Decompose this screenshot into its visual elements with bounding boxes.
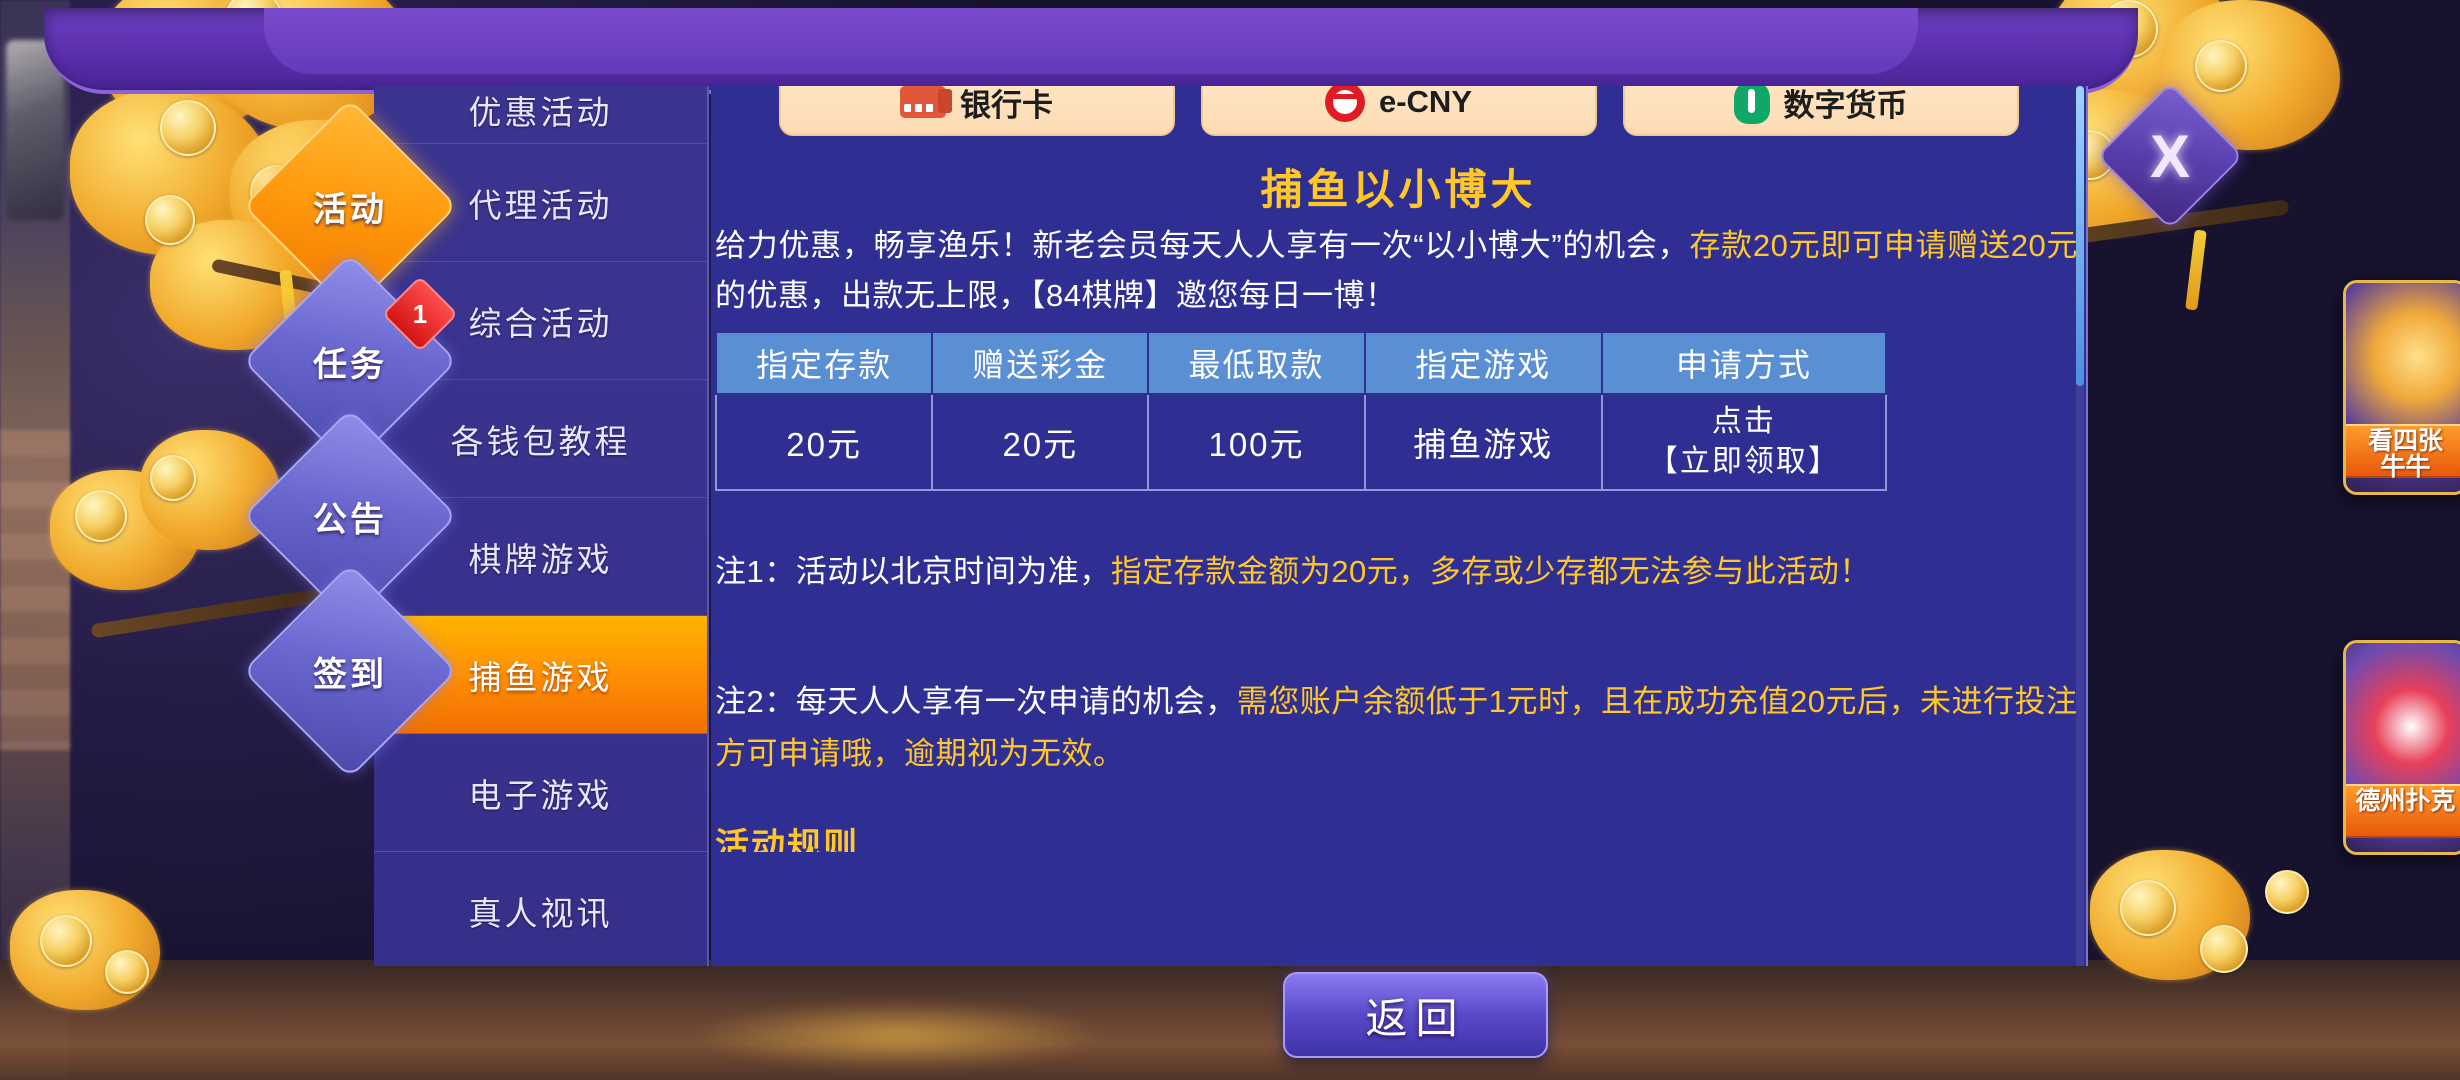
promotion-content-panel: 银行卡 e-CNY 数字货币 捕鱼以小博大 给力优惠，畅享渔乐！新老会员每天人人… xyxy=(711,86,2088,966)
table-cell-claim-action[interactable]: 点击【立即领取】 xyxy=(1602,394,1886,490)
note-2-part-0: 注2：每天人人享有一次申请的机会， xyxy=(715,684,1237,719)
bank-card-icon xyxy=(900,86,946,118)
promotion-title: 捕鱼以小博大 xyxy=(711,156,2086,217)
promo-desc-part-0: 给力优惠，畅享渔乐！新老会员每天人人享有一次“以小博大”的机会， xyxy=(715,228,1689,263)
ecny-icon xyxy=(1325,86,1365,122)
promotion-rules-heading: 活动规则 xyxy=(715,824,859,852)
payment-method-ecny-label: e-CNY xyxy=(1379,86,1472,120)
promotion-table: 指定存款 赠送彩金 最低取款 指定游戏 申请方式 20元 20元 100元 捕鱼… xyxy=(715,331,1887,491)
diamond-nav-item-checkin[interactable]: 签到 xyxy=(243,564,458,779)
table-header-2: 最低取款 xyxy=(1148,332,1364,394)
table-cell-min-withdraw: 100元 xyxy=(1148,394,1364,490)
diamond-nav-slot-3: 签到 xyxy=(255,595,445,747)
diamond-nav-item-announcements-label: 公告 xyxy=(276,442,424,590)
modal-arch-inner xyxy=(264,8,1918,74)
back-button[interactable]: 返回 xyxy=(1283,972,1548,1058)
background-floor-glow xyxy=(689,1000,1109,1070)
table-row: 20元 20元 100元 捕鱼游戏 点击【立即领取】 xyxy=(716,394,1886,490)
modal-body: 优惠活动 代理活动 综合活动 各钱包教程 棋牌游戏 捕鱼游戏 电子游戏 真人视讯… xyxy=(374,86,2088,966)
content-scrollbar-thumb[interactable] xyxy=(2076,86,2084,386)
promo-desc-part-2: 的优惠，出款无上限，【84棋牌】邀您每日一博！ xyxy=(715,278,1396,313)
payment-method-digital-currency-label: 数字货币 xyxy=(1784,86,1908,125)
tasks-badge-count: 1 xyxy=(395,289,445,339)
digital-wallet-icon xyxy=(1734,86,1770,124)
side-game-card-2[interactable]: 德州扑克 xyxy=(2343,640,2460,855)
promo-desc-part-1-highlight: 存款20元即可申请赠送20元 xyxy=(1689,228,2078,263)
payment-method-bank-card-label: 银行卡 xyxy=(960,86,1053,125)
promotion-note-2: 注2：每天人人享有一次申请的机会，需您账户余额低于1元时，且在成功充值20元后，… xyxy=(715,676,2078,780)
menu-item-6[interactable]: 电子游戏 xyxy=(374,734,707,852)
close-icon: X xyxy=(2120,106,2220,206)
table-header-0: 指定存款 xyxy=(716,332,932,394)
table-cell-bonus: 20元 xyxy=(932,394,1148,490)
note-1-part-0: 注1：活动以北京时间为准， xyxy=(715,554,1111,589)
diamond-nav: 活动 任务 1 公告 签到 xyxy=(255,130,445,750)
payment-methods-row: 银行卡 e-CNY 数字货币 xyxy=(711,86,2086,136)
side-game-card-2-label: 德州扑克 xyxy=(2343,784,2460,838)
side-game-card-1-label: 看四张牛牛 xyxy=(2343,424,2460,478)
modal-top-arch xyxy=(44,8,2138,94)
background-floor xyxy=(0,960,2460,1080)
content-scrollbar[interactable] xyxy=(2076,86,2084,966)
payment-method-ecny[interactable]: e-CNY xyxy=(1201,86,1597,136)
diamond-nav-item-activity-label: 活动 xyxy=(276,132,424,280)
payment-method-bank-card[interactable]: 银行卡 xyxy=(779,86,1175,136)
payment-method-digital-currency[interactable]: 数字货币 xyxy=(1623,86,2019,136)
diamond-nav-item-checkin-label: 签到 xyxy=(276,597,424,745)
side-game-card-1[interactable]: 看四张牛牛 xyxy=(2343,280,2460,495)
note-1-part-1-highlight: 指定存款金额为20元，多存或少存都无法参与此活动！ xyxy=(1111,554,1871,589)
table-header-1: 赠送彩金 xyxy=(932,332,1148,394)
promotion-description: 给力优惠，畅享渔乐！新老会员每天人人享有一次“以小博大”的机会，存款20元即可申… xyxy=(715,221,2078,321)
promotion-note-1: 注1：活动以北京时间为准，指定存款金额为20元，多存或少存都无法参与此活动！ xyxy=(715,546,2078,598)
menu-item-7[interactable]: 真人视讯 xyxy=(374,852,707,966)
table-cell-deposit: 20元 xyxy=(716,394,932,490)
table-cell-game: 捕鱼游戏 xyxy=(1365,394,1602,490)
table-header-4: 申请方式 xyxy=(1602,332,1886,394)
table-header-row: 指定存款 赠送彩金 最低取款 指定游戏 申请方式 xyxy=(716,332,1886,394)
table-header-3: 指定游戏 xyxy=(1365,332,1602,394)
